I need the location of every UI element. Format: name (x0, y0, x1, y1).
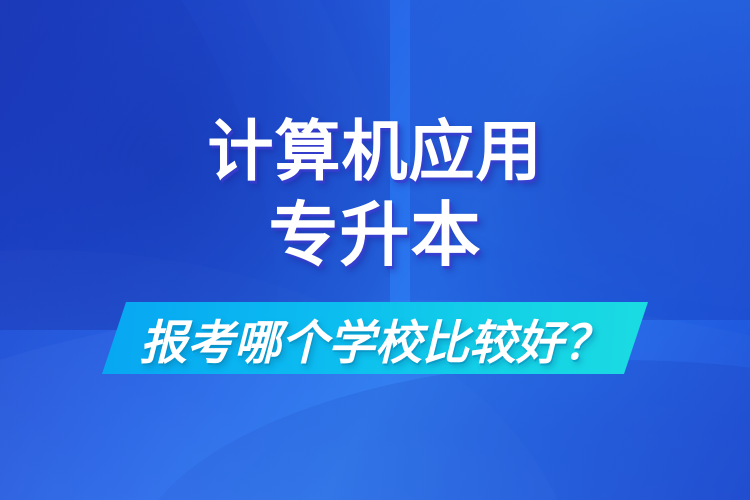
subtitle-ribbon-shape (102, 302, 648, 374)
promo-poster: 计算机应用 专升本 报考哪个学校比较好？ (0, 0, 750, 500)
